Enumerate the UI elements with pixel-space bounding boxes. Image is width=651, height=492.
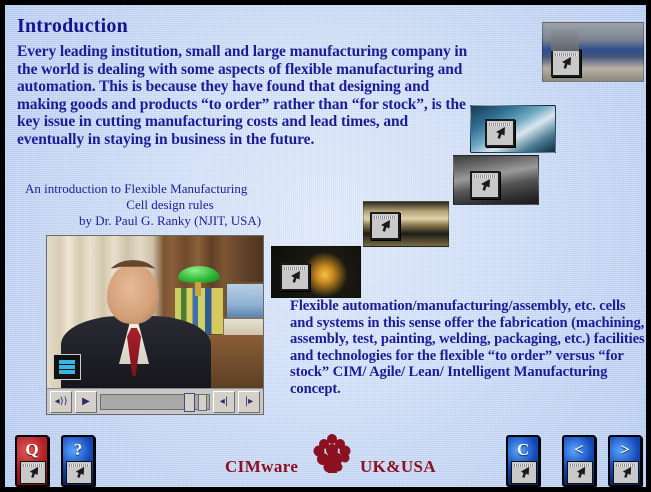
cursor-badge-icon[interactable] [280, 263, 310, 291]
machine-tool-thumbnail[interactable] [542, 22, 644, 82]
robot-cell-thumbnail[interactable] [453, 155, 539, 205]
brand-name: CIMware [225, 457, 298, 477]
cursor-badge-icon[interactable] [470, 171, 500, 199]
cursor-badge-icon[interactable] [551, 49, 581, 77]
cursor-badge-icon[interactable] [370, 212, 400, 240]
cursor-badge-icon[interactable] [66, 461, 92, 484]
next-button[interactable]: > [608, 435, 642, 487]
next-button-label: > [610, 437, 640, 463]
volume-button[interactable]: ◂)) [50, 391, 72, 413]
subtitle-line-3: by Dr. Paul G. Ranky (NJIT, USA) [25, 213, 315, 229]
page-title: Introduction [17, 15, 128, 38]
previous-button[interactable]: < [562, 435, 596, 487]
step-back-button[interactable]: ◂| [213, 391, 235, 413]
cursor-badge-icon[interactable] [567, 461, 593, 484]
presenter-head [107, 264, 159, 324]
framed-picture [225, 282, 264, 320]
presentation-slide: Introduction Every leading institution, … [0, 0, 651, 492]
cursor-badge-icon[interactable] [485, 119, 515, 147]
cursor-badge-icon[interactable] [511, 461, 537, 484]
assembly-line-thumbnail[interactable] [363, 201, 449, 247]
seek-end-marker[interactable] [198, 394, 207, 411]
play-button[interactable]: ▶ [75, 391, 97, 413]
help-button[interactable]: ? [61, 435, 95, 487]
blue-machining-thumbnail[interactable] [470, 105, 556, 153]
quit-button-label: Q [17, 437, 47, 463]
film-strip-icon [53, 354, 81, 380]
help-button-label: ? [63, 437, 93, 463]
desk-lamp-shade [178, 266, 220, 283]
brand-region: UK&USA [360, 457, 436, 477]
subtitle-line-2: Cell design rules [25, 197, 315, 213]
contents-button-label: C [508, 437, 538, 463]
previous-button-label: < [564, 437, 594, 463]
cursor-badge-icon[interactable] [20, 461, 46, 484]
cimware-cluster-logo [310, 433, 354, 477]
video-player[interactable]: ◂)) ▶ ◂| |▸ [46, 235, 264, 415]
desk-lamp-base [195, 282, 201, 296]
course-subtitle: An introduction to Flexible Manufacturin… [25, 181, 315, 229]
seek-slider[interactable] [100, 394, 210, 410]
seek-thumb[interactable] [184, 393, 195, 412]
cursor-badge-icon[interactable] [613, 461, 639, 484]
video-controls-bar[interactable]: ◂)) ▶ ◂| |▸ [47, 388, 263, 414]
welding-sparks-thumbnail[interactable] [271, 246, 361, 298]
contents-button[interactable]: C [506, 435, 540, 487]
subtitle-line-1: An introduction to Flexible Manufacturin… [25, 181, 315, 197]
film-strip-glyph [59, 360, 75, 374]
flexible-automation-paragraph: Flexible automation/manufacturing/assemb… [290, 298, 648, 398]
quit-button[interactable]: Q [15, 435, 49, 487]
intro-paragraph: Every leading institution, small and lar… [17, 43, 469, 149]
step-forward-button[interactable]: |▸ [238, 391, 260, 413]
